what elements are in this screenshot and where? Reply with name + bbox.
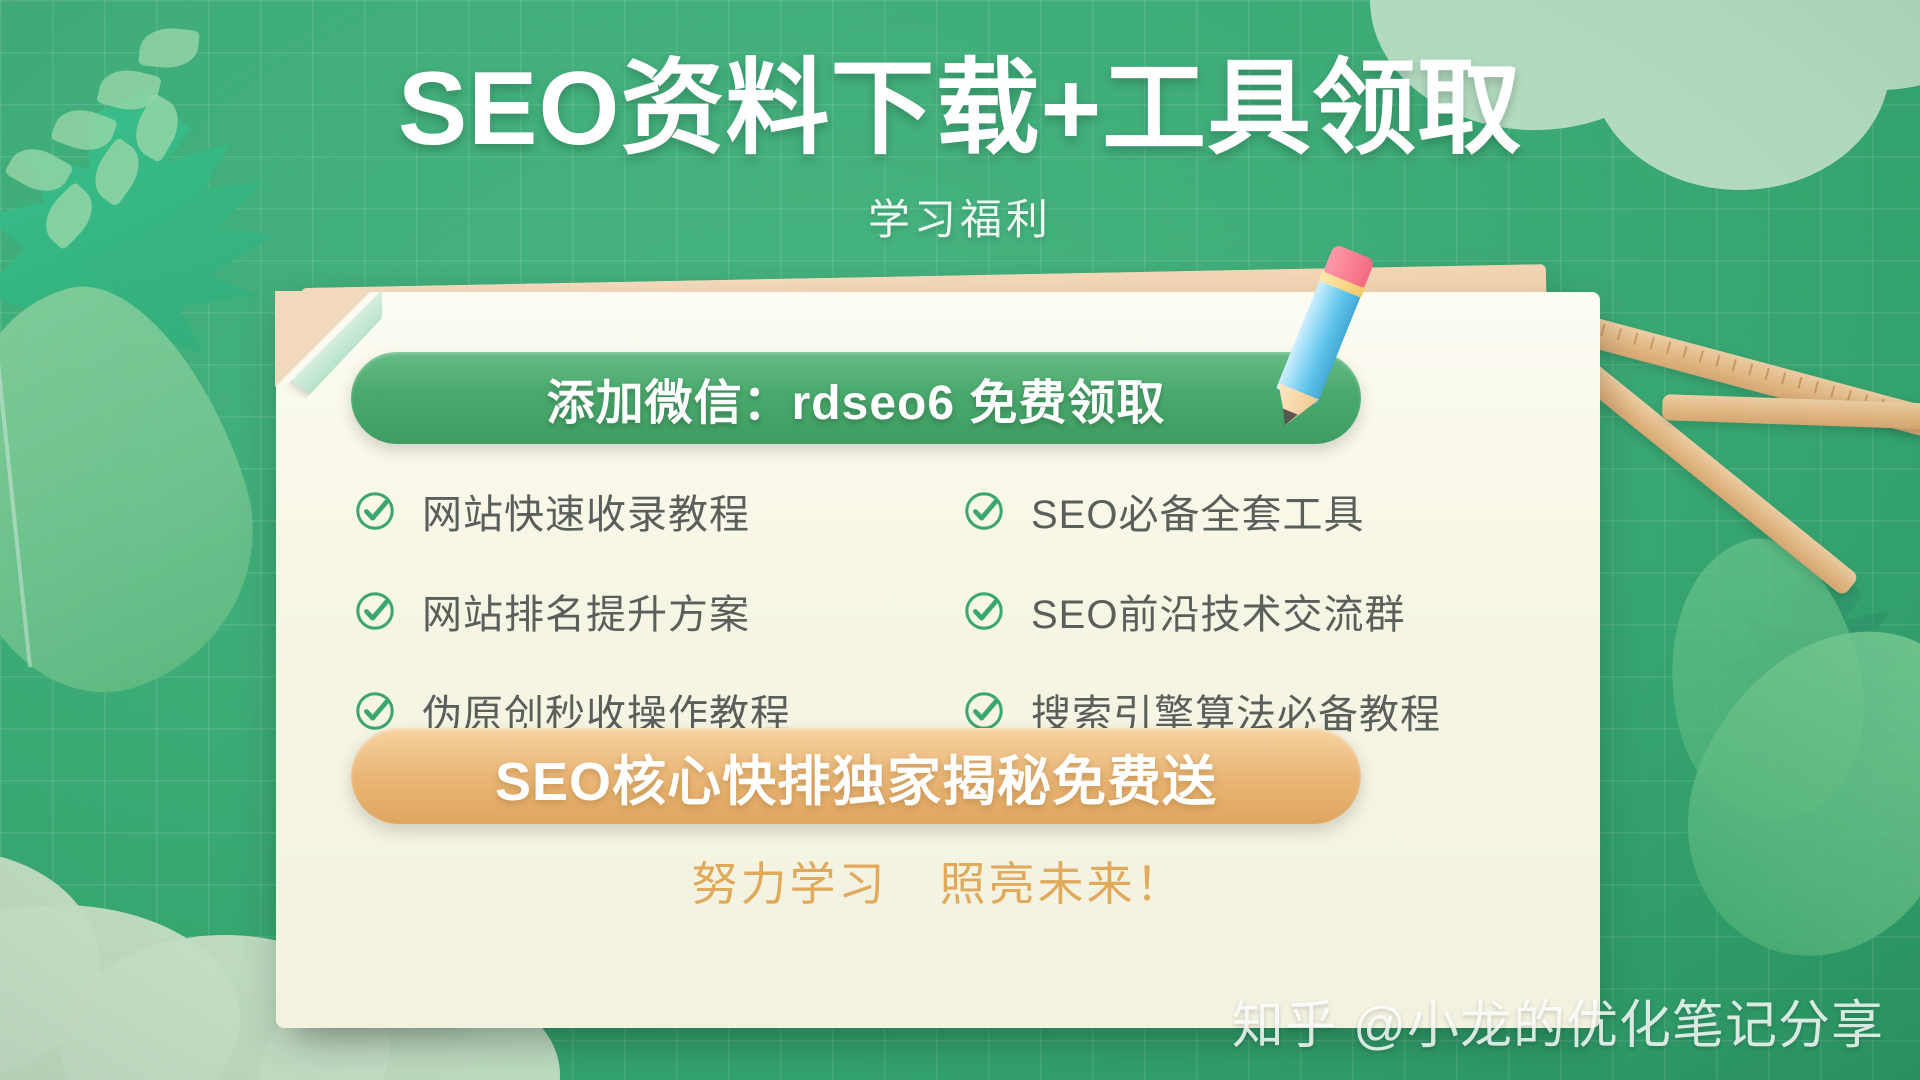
- free-gift-label: SEO核心快排独家揭秘免费送: [495, 737, 1217, 816]
- list-item: SEO前沿技术交流群: [963, 582, 1534, 640]
- offer-card: 添加微信：rdseo6 免费领取 网站快速收录教程: [276, 292, 1600, 1028]
- list-item-label: 网站排名提升方案: [422, 582, 750, 640]
- free-gift-button[interactable]: SEO核心快排独家揭秘免费送: [351, 728, 1361, 824]
- list-item-label: SEO前沿技术交流群: [1031, 582, 1405, 640]
- oval-leaf-icon: [0, 255, 295, 725]
- check-circle-icon: [354, 590, 396, 632]
- check-circle-icon: [963, 490, 1005, 532]
- slogan-left: 努力学习: [692, 858, 888, 910]
- list-item-label: 网站快速收录教程: [422, 482, 750, 540]
- list-item: 网站排名提升方案: [354, 582, 925, 640]
- benefits-checklist: 网站快速收录教程 SEO必备全套工具 网站排: [354, 482, 1534, 740]
- page-subtitle: 学习福利: [0, 186, 1920, 247]
- slogan-right: 照亮未来！: [940, 858, 1185, 910]
- slogan-text: 努力学习照亮未来！: [276, 848, 1600, 914]
- zhihu-watermark: 知乎 @小龙的优化笔记分享: [1232, 983, 1884, 1058]
- add-wechat-button[interactable]: 添加微信：rdseo6 免费领取: [351, 352, 1361, 444]
- check-circle-icon: [354, 690, 396, 732]
- list-item-label: SEO必备全套工具: [1031, 482, 1364, 540]
- check-circle-icon: [963, 690, 1005, 732]
- check-circle-icon: [963, 590, 1005, 632]
- seo-promo-poster: SEO资料下载+工具领取 学习福利 添加微信：rdseo6 免费领取: [0, 0, 1920, 1080]
- pencil-icon: [1267, 242, 1381, 416]
- page-title: SEO资料下载+工具领取: [0, 52, 1920, 166]
- list-item: 网站快速收录教程: [354, 482, 925, 540]
- check-circle-icon: [354, 490, 396, 532]
- add-wechat-label: 添加微信：rdseo6 免费领取: [547, 363, 1166, 433]
- list-item: SEO必备全套工具: [963, 482, 1534, 540]
